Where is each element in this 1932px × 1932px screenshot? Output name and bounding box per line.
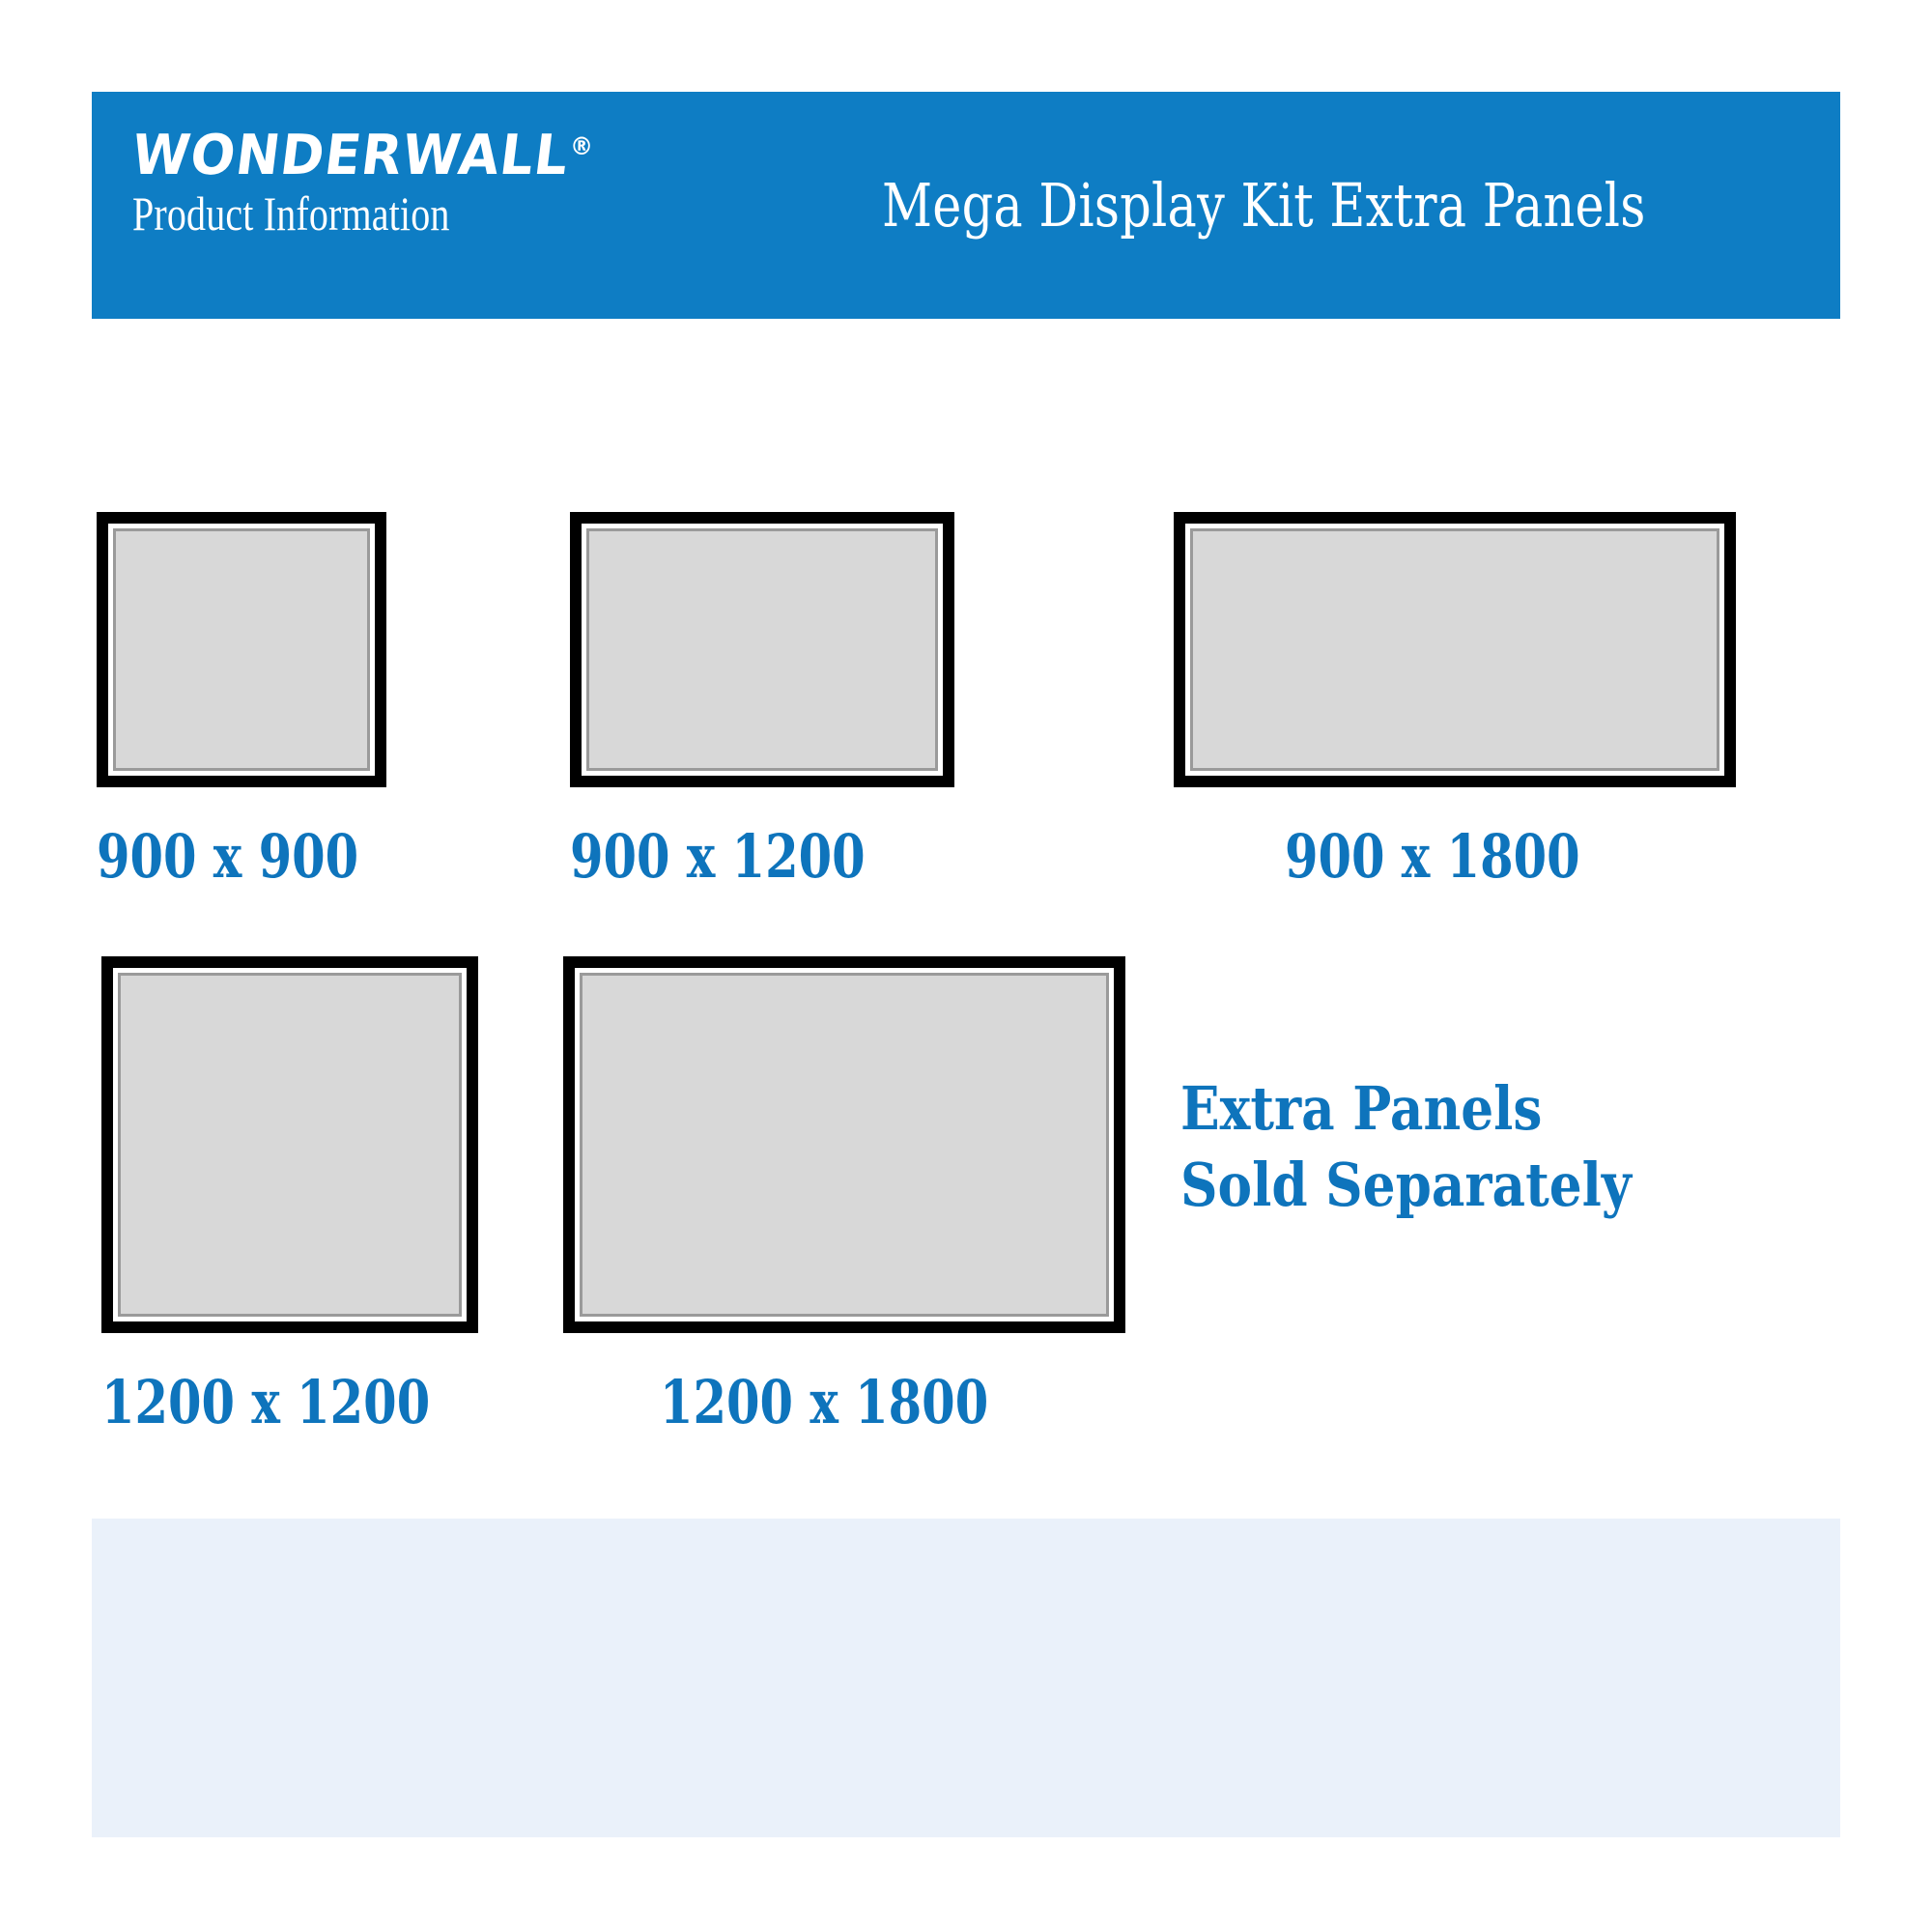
panel-diagram — [570, 512, 954, 787]
brand-subtitle: Product Information — [132, 187, 611, 241]
panel-label: 900 x 1200 — [570, 821, 866, 892]
callout-line-1: Extra Panels — [1180, 1070, 1632, 1147]
brand-wordmark-text: WONDERWALL — [128, 123, 573, 187]
panel-diagram — [563, 956, 1125, 1333]
header-title: Mega Display Kit Extra Panels — [768, 92, 1840, 319]
footer-panel — [92, 1519, 1840, 1837]
panel-label: 1200 x 1200 — [101, 1367, 430, 1437]
panel-diagram — [1174, 512, 1736, 787]
panel-surface — [113, 528, 370, 771]
panel-diagram — [97, 512, 386, 787]
page-title: Mega Display Kit Extra Panels — [882, 170, 1646, 241]
panel-label: 900 x 1800 — [1285, 821, 1580, 892]
brand-block: WONDERWALL® Product Information — [132, 128, 731, 241]
panel-card-900x1200: 900 x 1200 — [570, 512, 976, 879]
panel-surface — [586, 528, 938, 771]
brand-wordmark: WONDERWALL® — [128, 127, 734, 183]
extra-panels-callout: Extra Panels Sold Separately — [1180, 1070, 1632, 1224]
header-bar: WONDERWALL® Product Information Mega Dis… — [92, 92, 1840, 319]
panel-card-900x900: 900 x 900 — [97, 512, 396, 879]
registered-trademark-icon: ® — [570, 134, 593, 159]
panel-card-1200x1800: 1200 x 1800 — [563, 956, 1143, 1439]
panel-label: 900 x 900 — [97, 821, 358, 892]
callout-line-2: Sold Separately — [1180, 1147, 1632, 1223]
product-information-sheet: WONDERWALL® Product Information Mega Dis… — [0, 0, 1932, 1932]
panel-diagram — [101, 956, 478, 1333]
panel-surface — [118, 973, 462, 1317]
panel-card-1200x1200: 1200 x 1200 — [101, 956, 488, 1439]
panel-surface — [1190, 528, 1719, 771]
panel-surface — [580, 973, 1109, 1317]
panel-label: 1200 x 1800 — [660, 1367, 988, 1437]
panel-card-900x1800: 900 x 1800 — [1174, 512, 1773, 879]
